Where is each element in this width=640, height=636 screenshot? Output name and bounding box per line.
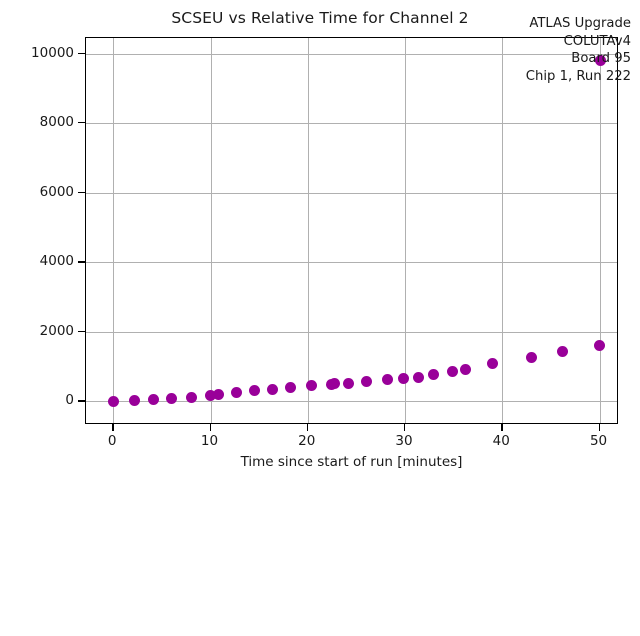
gridline-vertical — [211, 38, 212, 423]
y-tick-label: 2000 — [40, 323, 74, 339]
x-tick-label: 50 — [590, 433, 607, 449]
data-point — [148, 394, 159, 405]
data-point — [413, 372, 424, 383]
data-point — [557, 346, 568, 357]
annotation-line-3: Board 95 — [526, 50, 631, 68]
x-tick-mark — [599, 424, 600, 431]
data-point — [398, 373, 409, 384]
y-tick-mark — [78, 400, 85, 401]
y-tick-mark — [78, 122, 85, 123]
data-point — [249, 385, 260, 396]
data-point — [129, 395, 140, 406]
data-point — [166, 393, 177, 404]
x-tick-mark — [112, 424, 113, 431]
x-axis-label: Time since start of run [minutes] — [85, 454, 618, 470]
data-point — [343, 378, 354, 389]
y-tick-mark — [78, 192, 85, 193]
y-tick-mark — [78, 261, 85, 262]
data-point — [447, 366, 458, 377]
gridline-horizontal — [86, 123, 617, 124]
annotation-line-4: Chip 1, Run 222 — [526, 68, 631, 86]
y-tick-label: 4000 — [40, 253, 74, 269]
y-tick-label: 8000 — [40, 114, 74, 130]
gridline-vertical — [502, 38, 503, 423]
gridline-horizontal — [86, 332, 617, 333]
y-tick-mark — [78, 331, 85, 332]
x-tick-label: 10 — [201, 433, 218, 449]
y-tick-label: 0 — [65, 392, 74, 408]
y-tick-label: 10000 — [31, 45, 74, 61]
x-tick-mark — [501, 424, 502, 431]
data-point — [267, 384, 278, 395]
data-point — [108, 396, 119, 407]
gridline-vertical — [308, 38, 309, 423]
x-tick-label: 0 — [108, 433, 117, 449]
y-tick-label: 6000 — [40, 184, 74, 200]
data-point — [460, 364, 471, 375]
data-point — [594, 340, 605, 351]
data-point — [487, 358, 498, 369]
plot-area — [85, 37, 618, 424]
data-point — [285, 382, 296, 393]
data-point — [428, 369, 439, 380]
x-tick-mark — [404, 424, 405, 431]
gridline-vertical — [405, 38, 406, 423]
chart-figure: SCSEU vs Relative Time for Channel 2 020… — [0, 0, 640, 480]
gridline-horizontal — [86, 262, 617, 263]
chart-annotation: ATLAS UpgradeCOLUTAv4Board 95Chip 1, Run… — [526, 15, 631, 85]
annotation-line-1: ATLAS Upgrade — [526, 15, 631, 33]
annotation-line-2: COLUTAv4 — [526, 33, 631, 51]
data-point — [213, 389, 224, 400]
x-tick-mark — [307, 424, 308, 431]
data-point — [306, 380, 317, 391]
gridline-vertical — [600, 38, 601, 423]
x-tick-label: 40 — [493, 433, 510, 449]
gridline-vertical — [113, 38, 114, 423]
y-tick-mark — [78, 53, 85, 54]
gridline-horizontal — [86, 193, 617, 194]
gridline-horizontal — [86, 401, 617, 402]
data-point — [382, 374, 393, 385]
y-axis-label-wrap: SCSEU (Pedestal Value is 3) — [0, 37, 20, 424]
x-tick-label: 20 — [298, 433, 315, 449]
x-tick-mark — [210, 424, 211, 431]
data-point — [526, 352, 537, 363]
data-point — [186, 392, 197, 403]
x-tick-label: 30 — [395, 433, 412, 449]
data-point — [329, 378, 340, 389]
data-point — [361, 376, 372, 387]
data-point — [231, 387, 242, 398]
